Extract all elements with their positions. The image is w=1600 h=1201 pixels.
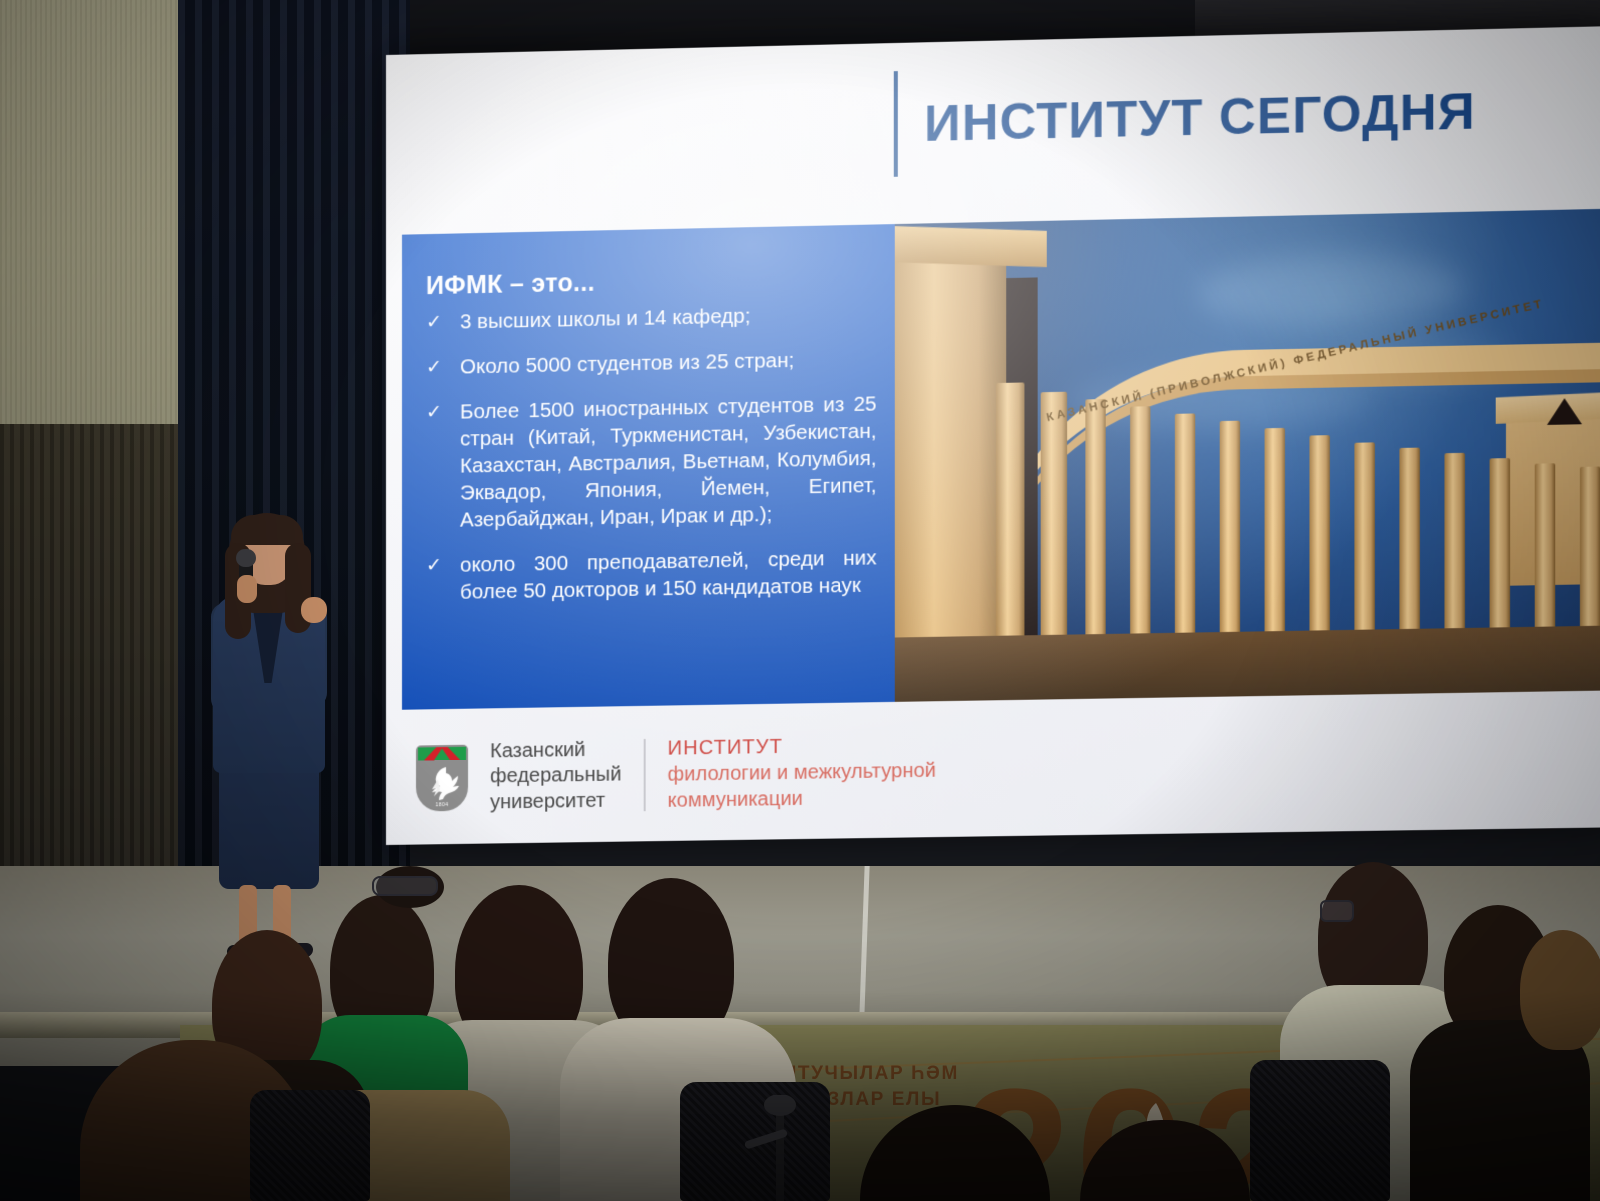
wall-acoustic-panel <box>0 0 182 430</box>
logo-founding-year: 1804 <box>416 802 468 809</box>
corner-pylon-cap <box>895 226 1047 267</box>
content-blue-panel: ИФМК – это... ✓ 3 высших школы и 14 кафе… <box>402 224 895 710</box>
check-icon: ✓ <box>426 399 444 534</box>
footer-divider <box>644 739 646 811</box>
university-line-2: федеральный <box>490 763 621 791</box>
check-icon: ✓ <box>426 354 444 381</box>
university-name: Казанский федеральный университет <box>490 737 621 816</box>
chair <box>250 1090 370 1201</box>
slide-footer: 1804 Казанский федеральный университет И… <box>402 708 1600 831</box>
blue-panel-heading: ИФМК – это... <box>426 263 877 301</box>
logo-chevron-band <box>418 747 466 761</box>
institute-name: ИНСТИТУТ филологии и межкультурной комму… <box>668 731 936 813</box>
kfu-logo-icon: 1804 <box>416 745 468 812</box>
bullet-list: ✓ 3 высших школы и 14 кафедр; ✓ Около 50… <box>426 300 877 606</box>
plaza-ground <box>895 626 1600 702</box>
presenter-speaker <box>193 505 353 960</box>
presenter-left-hand <box>237 575 257 603</box>
list-item-label: 3 высших школы и 14 кафедр; <box>460 300 877 336</box>
check-icon: ✓ <box>426 309 444 336</box>
slide-body: ИФМК – это... ✓ 3 высших школы и 14 кафе… <box>402 209 1600 710</box>
microphone-head <box>236 549 256 567</box>
slide-surface: ИНСТИТУТ СЕГОДНЯ ИФМК – это... ✓ 3 высши… <box>386 26 1600 845</box>
institute-line-3: коммуникации <box>668 784 936 814</box>
audience-head <box>1520 930 1600 1050</box>
university-line-3: университет <box>490 788 621 816</box>
list-item-label: около 300 преподавателей, среди них боле… <box>460 544 877 605</box>
list-item-label: Более 1500 иностранных студентов из 25 с… <box>460 390 877 533</box>
chair <box>1250 1060 1390 1201</box>
institute-line-2: филологии и межкультурной <box>668 758 936 788</box>
presenter-hair-front <box>231 515 303 545</box>
title-accent-rule <box>894 71 898 177</box>
list-item: ✓ около 300 преподавателей, среди них бо… <box>426 544 877 606</box>
list-item: ✓ 3 высших школы и 14 кафедр; <box>426 300 877 336</box>
institute-line-1: ИНСТИТУТ <box>668 731 936 761</box>
logo-chevron-red <box>424 747 460 761</box>
eyeglasses-icon <box>372 876 438 896</box>
list-item-label: Около 5000 студентов из 25 стран; <box>460 345 877 380</box>
presenter-right-hand <box>301 597 327 623</box>
list-item: ✓ Более 1500 иностранных студентов из 25… <box>426 390 877 534</box>
microphone-stand-icon <box>724 1095 834 1201</box>
kfu-building-photo: КАЗАНСКИЙ (ПРИВОЛЖСКИЙ) ФЕДЕРАЛЬНЫЙ УНИВ… <box>895 209 1600 702</box>
university-line-1: Казанский <box>490 737 621 765</box>
eyeglasses-icon <box>1320 900 1354 922</box>
page-title: ИНСТИТУТ СЕГОДНЯ <box>924 81 1476 152</box>
check-icon: ✓ <box>426 552 444 606</box>
conference-hall-scene: ИНСТИТУТ СЕГОДНЯ ИФМК – это... ✓ 3 высши… <box>0 0 1600 1201</box>
presenter-skirt <box>219 763 319 889</box>
slide-header: ИНСТИТУТ СЕГОДНЯ <box>894 58 1476 177</box>
list-item: ✓ Около 5000 студентов из 25 стран; <box>426 345 877 381</box>
projection-screen: ИНСТИТУТ СЕГОДНЯ ИФМК – это... ✓ 3 высши… <box>386 26 1600 845</box>
